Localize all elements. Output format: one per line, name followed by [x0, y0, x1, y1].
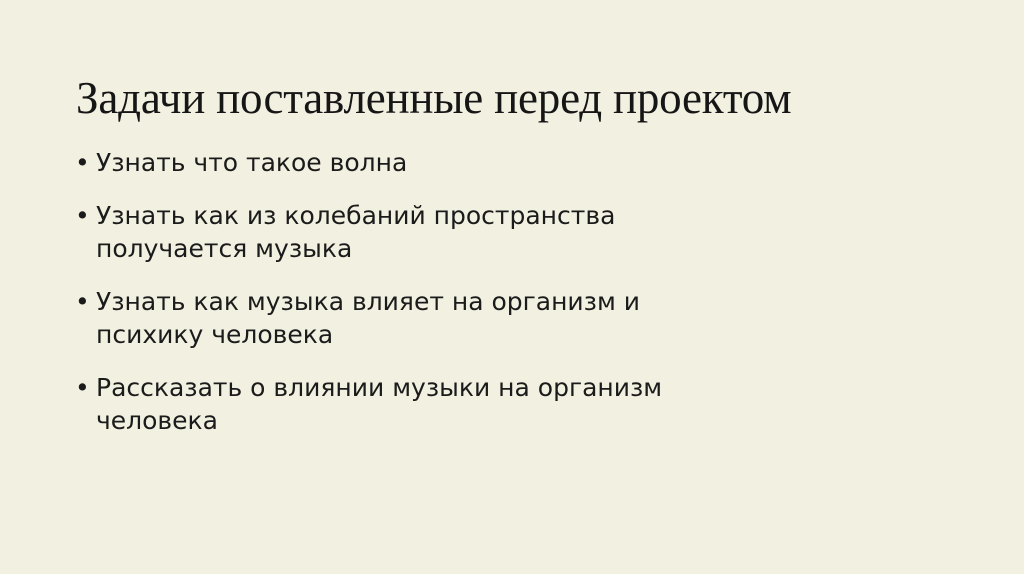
- bullet-point-icon: •: [75, 285, 90, 319]
- bullet-point-icon: •: [75, 371, 90, 405]
- list-item: • Узнать что такое волна: [72, 146, 732, 180]
- bullet-point-icon: •: [75, 199, 90, 233]
- list-item-label: Узнать как из колебаний пространства пол…: [96, 199, 732, 266]
- bullet-point-icon: •: [75, 146, 90, 180]
- list-item: • Узнать как музыка влияет на организм и…: [72, 285, 732, 352]
- bullet-list: • Узнать что такое волна • Узнать как из…: [72, 146, 732, 438]
- page-title: Задачи поставленные перед проектом: [76, 74, 956, 123]
- list-item: • Узнать как из колебаний пространства п…: [72, 199, 732, 266]
- slide: Задачи поставленные перед проектом • Узн…: [0, 0, 1024, 574]
- list-item-label: Узнать что такое волна: [96, 146, 732, 180]
- list-item: • Рассказать о влиянии музыки на организ…: [72, 371, 732, 438]
- list-item-label: Рассказать о влиянии музыки на организм …: [96, 371, 732, 438]
- list-item-label: Узнать как музыка влияет на организм и п…: [96, 285, 732, 352]
